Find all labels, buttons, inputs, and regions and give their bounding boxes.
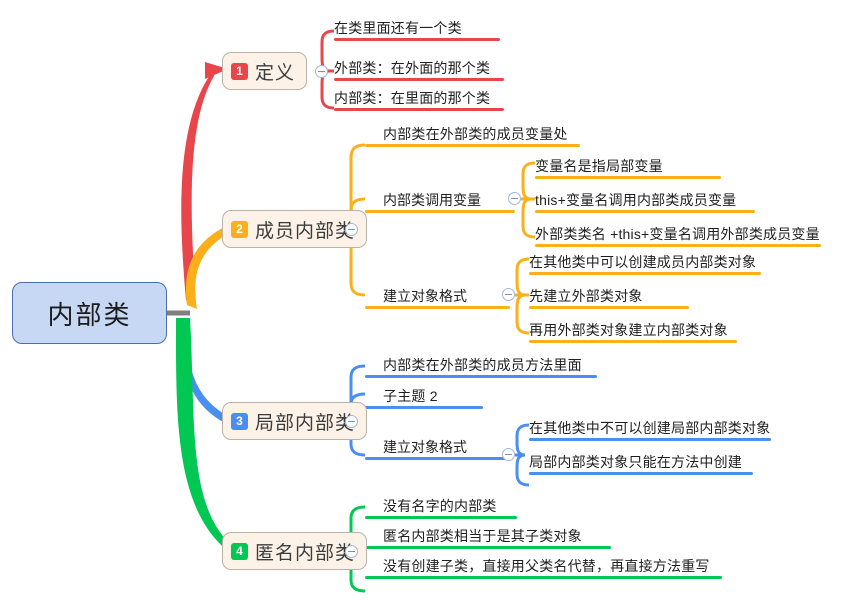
leaf-3-2[interactable]: 子主题 2 <box>383 386 438 408</box>
b3a-link-1 <box>517 425 529 455</box>
collapse-toggle-3-3[interactable] <box>502 448 515 461</box>
collapse-toggle-2[interactable] <box>345 223 358 236</box>
topic-badge-4: 4 <box>231 543 248 560</box>
collapse-toggle-2-2[interactable] <box>508 192 521 205</box>
topic-label-1: 定义 <box>255 58 295 85</box>
leaf-2-2-1[interactable]: 变量名是指局部变量 <box>535 156 663 178</box>
subtopic-2-2[interactable]: 内部类调用变量 <box>383 190 481 210</box>
subtopic-2-3[interactable]: 建立对象格式 <box>383 286 467 306</box>
topic-label-4: 匿名内部类 <box>255 538 355 565</box>
leaf-2-2-2[interactable]: this+变量名调用内部类成员变量 <box>535 190 736 212</box>
leaf-4-1[interactable]: 没有名字的内部类 <box>383 496 497 518</box>
mindmap-canvas: 内部类 1 定义 在类里面还有一个类 外部类：在外面的那个类 内部类：在里面的那… <box>0 0 849 600</box>
subtopic-3-3[interactable]: 建立对象格式 <box>383 437 467 457</box>
topic-badge-2: 2 <box>231 221 248 238</box>
b2a-link-1 <box>523 163 535 199</box>
root-label: 内部类 <box>47 295 131 332</box>
collapse-toggle-1[interactable] <box>315 65 328 78</box>
leaf-rule-2-2 <box>365 210 515 213</box>
leaf-2-3-1[interactable]: 在其他类中可以创建成员内部类对象 <box>529 252 756 274</box>
leaf-1-2[interactable]: 外部类：在外面的那个类 <box>334 58 490 80</box>
topic-node-1[interactable]: 1 定义 <box>222 52 307 90</box>
leaf-2-3-3[interactable]: 再用外部类对象建立内部类对象 <box>529 320 728 342</box>
leaf-3-1[interactable]: 内部类在外部类的成员方法里面 <box>383 355 582 377</box>
trunk-branch-1 <box>181 69 214 305</box>
leaf-1-1[interactable]: 在类里面还有一个类 <box>334 18 462 40</box>
topic-label-2: 成员内部类 <box>255 216 355 243</box>
leaf-3-3-2[interactable]: 局部内部类对象只能在方法中创建 <box>529 452 742 474</box>
leaf-rule-3-3 <box>365 457 510 460</box>
topic-badge-3: 3 <box>231 413 248 430</box>
collapse-toggle-3[interactable] <box>345 415 358 428</box>
leaf-2-2-3[interactable]: 外部类类名 +this+变量名调用外部类成员变量 <box>535 224 820 246</box>
leaf-2-3-2[interactable]: 先建立外部类对象 <box>529 286 643 308</box>
leaf-rule-2-3 <box>365 306 510 309</box>
b2b-link-1 <box>517 259 529 295</box>
b3a-link-2 <box>517 455 529 485</box>
collapse-toggle-4[interactable] <box>345 545 358 558</box>
topic-badge-1: 1 <box>231 63 248 80</box>
b2b-link-3 <box>517 295 529 333</box>
leaf-2-1[interactable]: 内部类在外部类的成员变量处 <box>383 124 568 146</box>
leaf-4-3[interactable]: 没有创建子类，直接用父类名代替，再直接方法重写 <box>383 556 710 578</box>
root-node[interactable]: 内部类 <box>12 282 167 344</box>
topic-label-3: 局部内部类 <box>255 408 355 435</box>
leaf-1-3[interactable]: 内部类：在里面的那个类 <box>334 88 490 110</box>
leaf-3-3-1[interactable]: 在其他类中不可以创建局部内部类对象 <box>529 418 770 440</box>
collapse-toggle-2-3[interactable] <box>502 288 515 301</box>
leaf-4-2[interactable]: 匿名内部类相当于是其子类对象 <box>383 526 582 548</box>
b2a-link-3 <box>523 199 535 237</box>
